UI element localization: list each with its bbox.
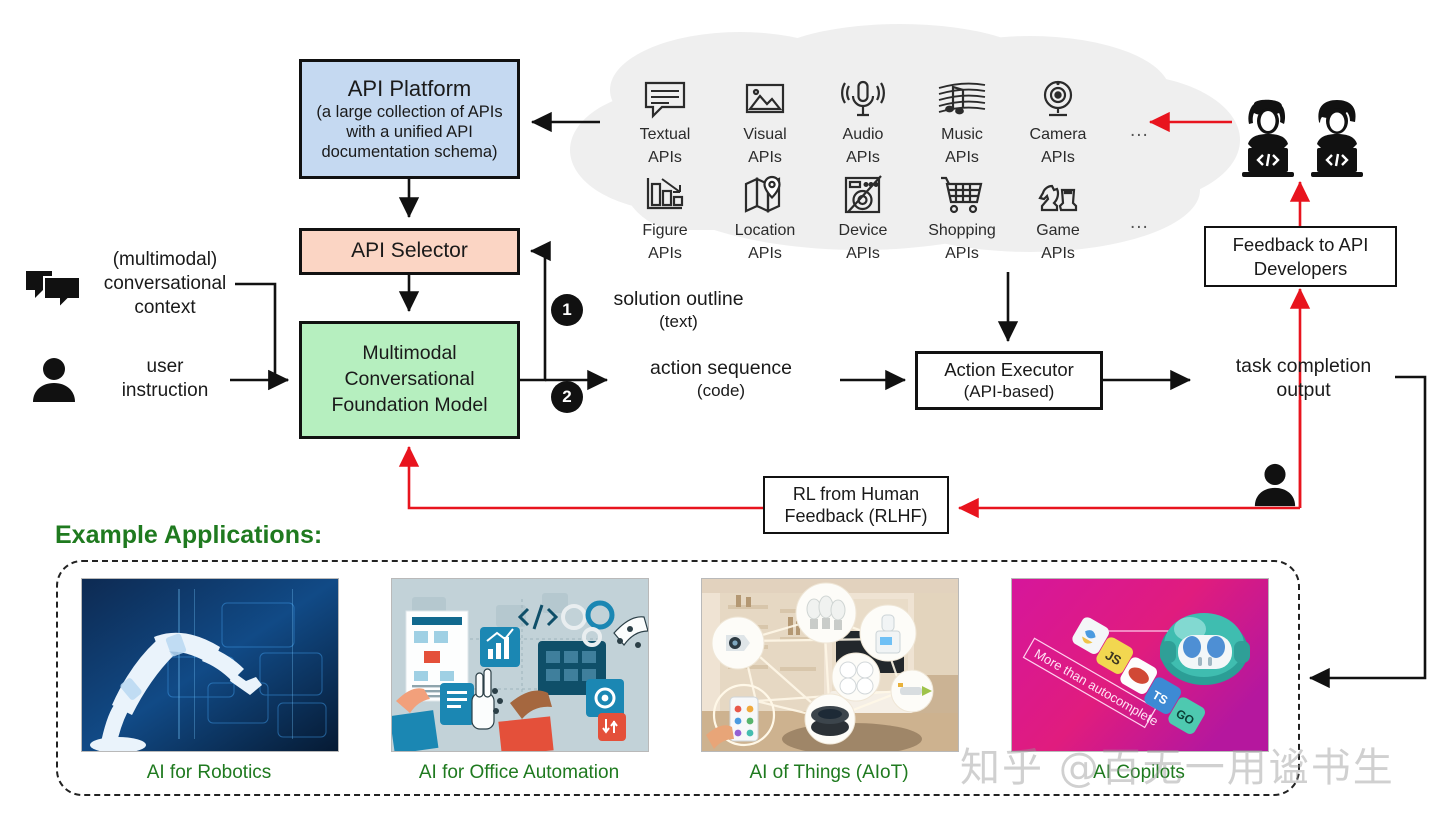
action-executor-box[interactable]: Action Executor (API-based) xyxy=(915,351,1103,410)
male-developer-icon xyxy=(1305,98,1369,182)
rlhf-line-2: Feedback (RLHF) xyxy=(784,505,927,528)
api-platform-box[interactable]: API Platform (a large collection of APIs… xyxy=(299,59,520,179)
api-platform-subtitle-2: with a unified API xyxy=(316,122,502,142)
example-app-caption: AI for Robotics xyxy=(81,762,337,784)
api-platform-subtitle-3: documentation schema) xyxy=(316,142,502,162)
rlhf-line-1: RL from Human xyxy=(793,483,919,506)
foundation-model-line-1: Multimodal xyxy=(362,341,456,367)
example-app-caption: AI for Office Automation xyxy=(391,762,647,784)
action-sequence-line-2: (code) xyxy=(612,381,830,402)
action-sequence-label: action sequence (code) xyxy=(612,357,830,402)
solution-outline-line-2: (text) xyxy=(576,312,781,333)
example-app-caption: AI Copilots xyxy=(1011,762,1267,784)
example-app-copilots[interactable]: More than autocomplete JS TS GO xyxy=(1011,578,1267,784)
context-line-1: (multimodal) xyxy=(60,248,270,272)
end-user-person-icon xyxy=(1252,462,1298,508)
api-selector-title: API Selector xyxy=(351,239,468,263)
action-sequence-line-1: action sequence xyxy=(612,357,830,381)
api-platform-subtitle-1: (a large collection of APIs xyxy=(316,102,502,122)
foundation-model-box[interactable]: Multimodal Conversational Foundation Mod… xyxy=(299,321,520,439)
user-instruction-line-1: user xyxy=(80,355,250,379)
api-platform-title: API Platform xyxy=(348,76,471,102)
aiot-thumbnail xyxy=(701,578,959,752)
example-applications-heading: Example Applications: xyxy=(55,521,322,550)
robotics-thumbnail xyxy=(81,578,339,752)
example-app-office-automation[interactable]: AI for Office Automation xyxy=(391,578,647,784)
step-badge-2: 2 xyxy=(551,381,583,413)
foundation-model-line-2: Conversational xyxy=(344,367,474,393)
task-completion-output-label: task completion output xyxy=(1196,355,1411,403)
api-selector-box[interactable]: API Selector xyxy=(299,228,520,275)
solution-outline-label: solution outline (text) xyxy=(576,288,781,333)
feedback-to-api-developers-box[interactable]: Feedback to API Developers xyxy=(1204,226,1397,287)
context-line-2: conversational xyxy=(60,272,270,296)
copilot-thumbnail: More than autocomplete JS TS GO xyxy=(1011,578,1269,752)
example-app-caption: AI of Things (AIoT) xyxy=(701,762,957,784)
foundation-model-line-3: Foundation Model xyxy=(331,393,487,419)
example-app-robotics[interactable]: AI for Robotics xyxy=(81,578,337,784)
user-person-icon xyxy=(30,356,78,404)
feedback-line-1: Feedback to API xyxy=(1233,233,1369,256)
rlhf-box[interactable]: RL from Human Feedback (RLHF) xyxy=(763,476,949,534)
user-instruction-label: user instruction xyxy=(80,355,250,403)
user-instruction-line-2: instruction xyxy=(80,379,250,403)
diagram-canvas: Textual APIs Visual APIs Audio APIs xyxy=(0,0,1440,813)
task-output-line-1: task completion xyxy=(1196,355,1411,379)
feedback-line-2: Developers xyxy=(1254,257,1348,280)
task-output-line-2: output xyxy=(1196,379,1411,403)
example-app-aiot[interactable]: AI of Things (AIoT) xyxy=(701,578,957,784)
conversational-context-label: (multimodal) conversational context xyxy=(60,248,270,320)
action-executor-title: Action Executor xyxy=(944,358,1074,381)
action-executor-subtitle: (API-based) xyxy=(964,381,1055,402)
female-developer-icon xyxy=(1236,98,1300,182)
office-automation-thumbnail xyxy=(391,578,649,752)
context-line-3: context xyxy=(60,296,270,320)
solution-outline-line-1: solution outline xyxy=(576,288,781,312)
